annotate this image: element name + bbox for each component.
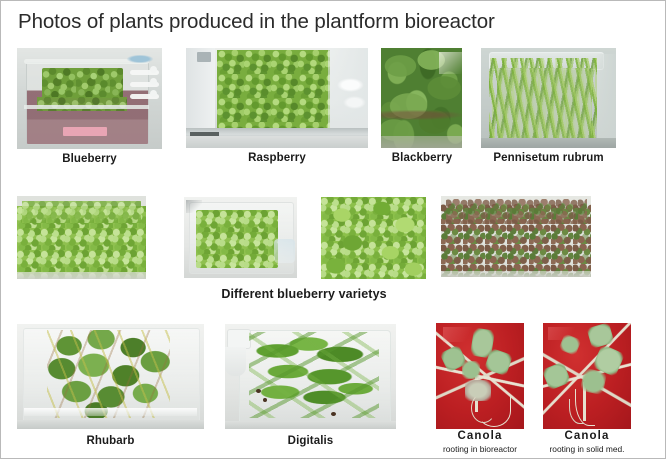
- subcaption-canola-bioreactor: rooting in bioreactor: [426, 444, 534, 454]
- photo-pennisetum-rubrum: [481, 48, 616, 148]
- caption-canola-bioreactor: Canola: [431, 430, 529, 442]
- caption-rhubarb: Rhubarb: [17, 435, 204, 447]
- caption-raspberry: Raspberry: [186, 152, 368, 164]
- caption-pennisetum-rubrum: Pennisetum rubrum: [471, 152, 626, 164]
- subcaption-canola-solid-med: rooting in solid med.: [532, 444, 642, 454]
- photo-blackberry: [381, 48, 462, 148]
- photo-blueberry: [17, 48, 162, 149]
- photo-canola-rooting-in-solid-med: [543, 323, 631, 429]
- caption-canola-solid-med: Canola: [538, 430, 636, 442]
- caption-digitalis: Digitalis: [225, 435, 396, 447]
- poster-page: Photos of plants produced in the plantfo…: [0, 0, 666, 459]
- caption-blueberry: Blueberry: [17, 153, 162, 165]
- page-title: Photos of plants produced in the plantfo…: [18, 10, 495, 34]
- photo-canola-rooting-in-bioreactor: [436, 323, 524, 429]
- caption-different-blueberry-varieties: Different blueberry varietys: [121, 287, 487, 301]
- photo-rhubarb: [17, 324, 204, 429]
- photo-blueberry-variety-2: [184, 197, 297, 278]
- photo-blueberry-variety-3: [321, 197, 426, 279]
- photo-blueberry-variety-1: [17, 196, 146, 279]
- photo-digitalis: [225, 324, 396, 429]
- caption-blackberry: Blackberry: [376, 152, 468, 164]
- photo-raspberry: [186, 48, 368, 148]
- photo-blueberry-variety-4: [441, 196, 591, 277]
